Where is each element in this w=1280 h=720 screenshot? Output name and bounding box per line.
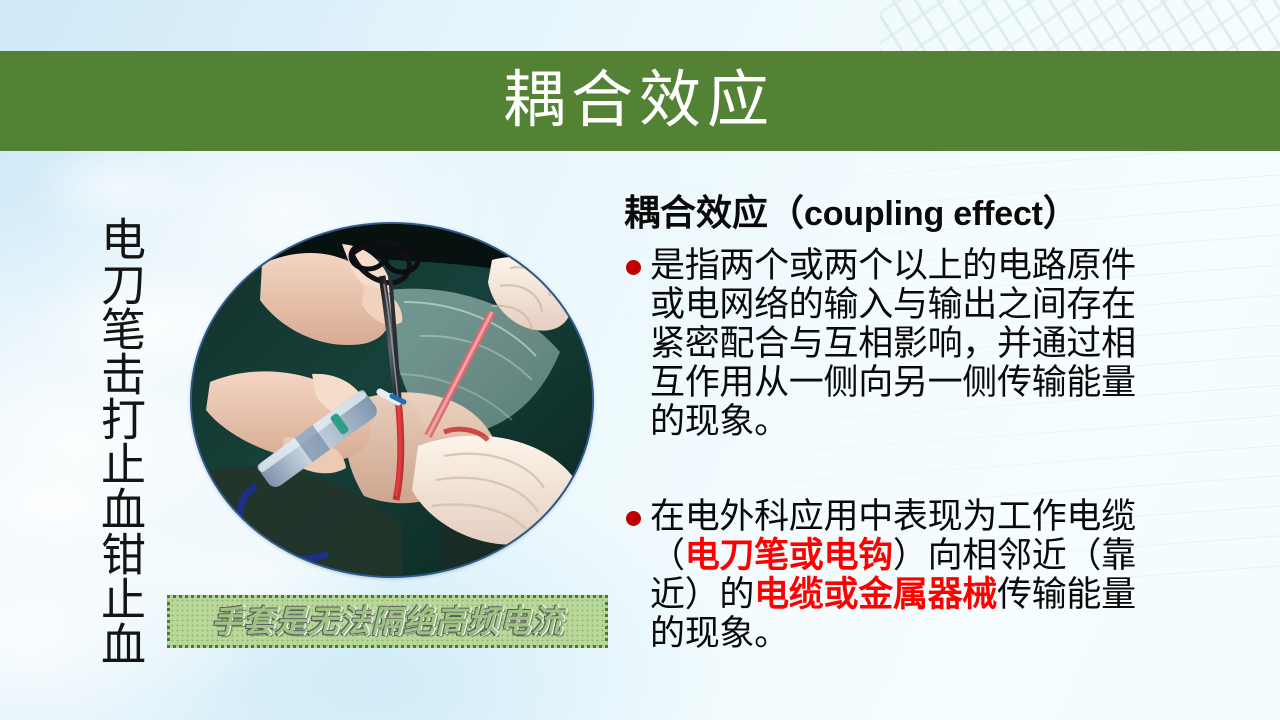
warning-plaque-text: 手套是无法隔绝高频电流 xyxy=(212,606,564,637)
bullet-marker-icon xyxy=(626,511,641,526)
section-heading-en: coupling effect xyxy=(804,195,1043,233)
highlighted-term: 电缆或金属器械 xyxy=(754,575,997,614)
section-heading-close: ） xyxy=(1043,193,1079,233)
bullet-text-run: 紧密配合与互相影响，并通过相 xyxy=(650,324,1136,363)
bullet-marker-icon xyxy=(626,260,641,275)
bullet-line: （电刀笔或电钩）向相邻近（靠 xyxy=(650,536,1256,575)
bullet-text-run: 近）的 xyxy=(650,575,754,614)
bullet-text-run: 或电网络的输入与输出之间存在 xyxy=(650,285,1136,324)
bullet-line: 的现象。 xyxy=(650,402,1256,441)
bullet-text-run: 的现象。 xyxy=(650,614,789,653)
warning-plaque: 手套是无法隔绝高频电流 xyxy=(167,595,608,648)
bullet-line: 的现象。 xyxy=(650,614,1256,653)
section-heading: 耦合效应（coupling effect） xyxy=(624,194,1256,234)
bullet-text-run: ）向相邻近（靠 xyxy=(893,536,1136,575)
bullet-list: 是指两个或两个以上的电路原件或电网络的输入与输出之间存在紧密配合与互相影响，并通… xyxy=(624,246,1256,653)
bullet-text-run: （ xyxy=(650,536,685,575)
bullet-text-run: 在电外科应用中表现为工作电缆 xyxy=(650,497,1136,536)
bullet-text-run: 互作用从一侧向另一侧传输能量 xyxy=(650,363,1136,402)
bullet-line: 是指两个或两个以上的电路原件 xyxy=(650,246,1256,285)
highlighted-term: 电刀笔或电钩 xyxy=(685,536,893,575)
bullet-definition: 是指两个或两个以上的电路原件或电网络的输入与输出之间存在紧密配合与互相影响，并通… xyxy=(624,246,1256,441)
surgery-photo xyxy=(190,222,594,578)
page-title: 耦合效应 xyxy=(503,70,777,132)
bullet-line: 或电网络的输入与输出之间存在 xyxy=(650,285,1256,324)
vertical-caption-label: 电刀笔击打止血钳止血 xyxy=(83,216,141,636)
bullet-text-run: 是指两个或两个以上的电路原件 xyxy=(650,246,1136,285)
bullet-line: 互作用从一侧向另一侧传输能量 xyxy=(650,363,1256,402)
content-column: 耦合效应（coupling effect） 是指两个或两个以上的电路原件或电网络… xyxy=(624,194,1256,653)
bullet-electrosurgery-application: 在电外科应用中表现为工作电缆（电刀笔或电钩）向相邻近（靠近）的电缆或金属器械传输… xyxy=(624,497,1256,653)
surgery-photo-image xyxy=(192,224,592,576)
section-heading-cn: 耦合效应（ xyxy=(624,193,804,233)
bullet-line: 紧密配合与互相影响，并通过相 xyxy=(650,324,1256,363)
slide-canvas: 耦合效应 电刀笔击打止血钳止血 xyxy=(0,0,1280,720)
bullet-text-run: 传输能量 xyxy=(997,575,1136,614)
title-banner: 耦合效应 xyxy=(0,51,1280,151)
bullet-text-run: 的现象。 xyxy=(650,402,789,441)
bullet-line: 近）的电缆或金属器械传输能量 xyxy=(650,575,1256,614)
bullet-line: 在电外科应用中表现为工作电缆 xyxy=(650,497,1256,536)
